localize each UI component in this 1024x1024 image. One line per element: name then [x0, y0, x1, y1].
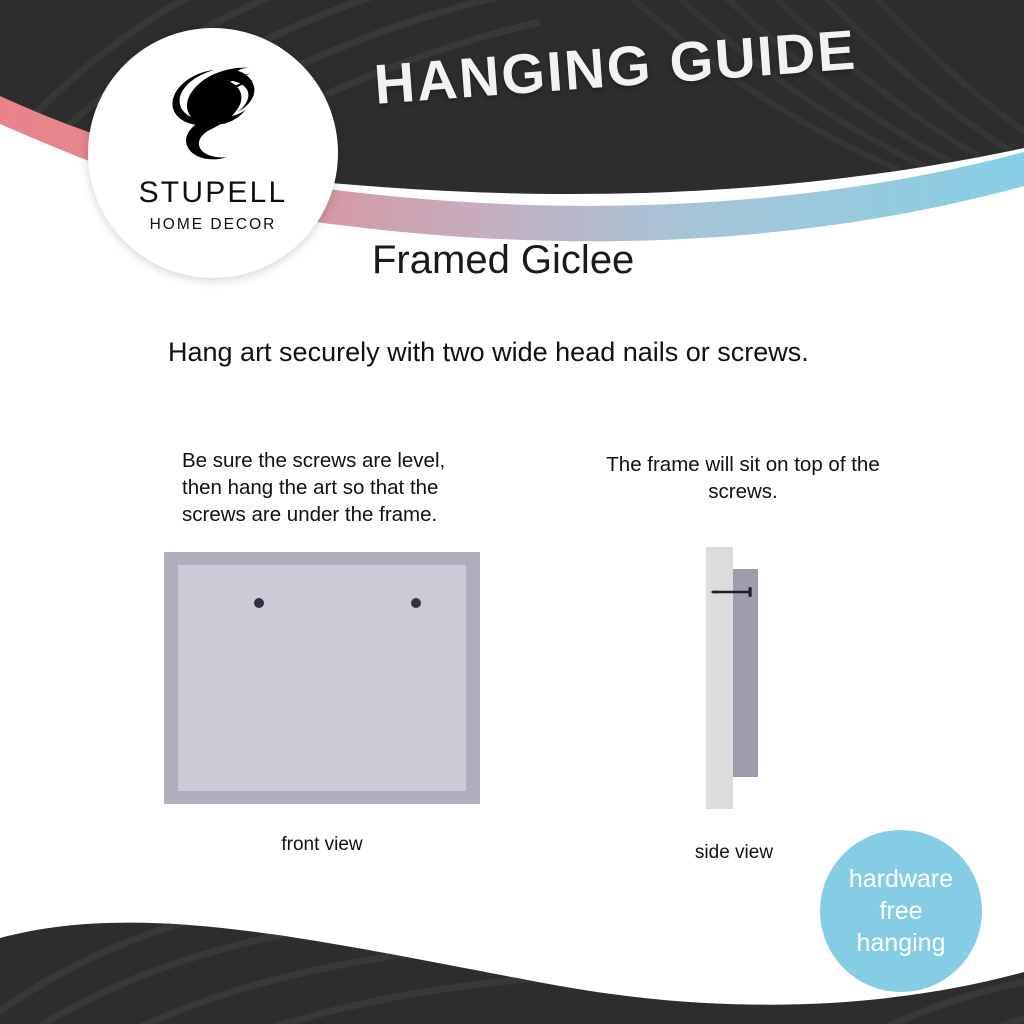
badge-line-1: hardware	[849, 863, 953, 895]
brand-tagline: HOME DECOR	[150, 217, 277, 233]
badge-line-3: hanging	[857, 927, 946, 959]
front-view-diagram	[164, 552, 480, 804]
nail-icon	[710, 585, 756, 599]
frame-artwork-area	[178, 565, 466, 791]
front-view-label: front view	[222, 834, 422, 856]
frame-profile-bar	[733, 569, 758, 777]
side-view-label: side view	[652, 842, 816, 864]
brand-name: STUPELL	[139, 178, 288, 208]
screw-dot-right-icon	[411, 598, 421, 608]
screw-dot-left-icon	[254, 598, 264, 608]
stupell-swoosh-icon	[154, 54, 272, 172]
side-view-caption: The frame will sit on top of the screws.	[598, 451, 888, 505]
badge-line-2: free	[879, 895, 922, 927]
page-title: HANGING GUIDE	[372, 17, 859, 117]
product-type-heading: Framed Giclee	[372, 238, 634, 283]
front-view-caption: Be sure the screws are level, then hang …	[182, 447, 482, 528]
brand-logo-badge: STUPELL HOME DECOR	[88, 28, 338, 278]
side-view-diagram	[706, 547, 796, 809]
main-instruction-text: Hang art securely with two wide head nai…	[168, 337, 809, 368]
hanging-guide-page: HANGING GUIDE STUPELL HOME DECOR Framed …	[0, 0, 1024, 1024]
hardware-free-hanging-badge: hardware free hanging	[820, 830, 982, 992]
